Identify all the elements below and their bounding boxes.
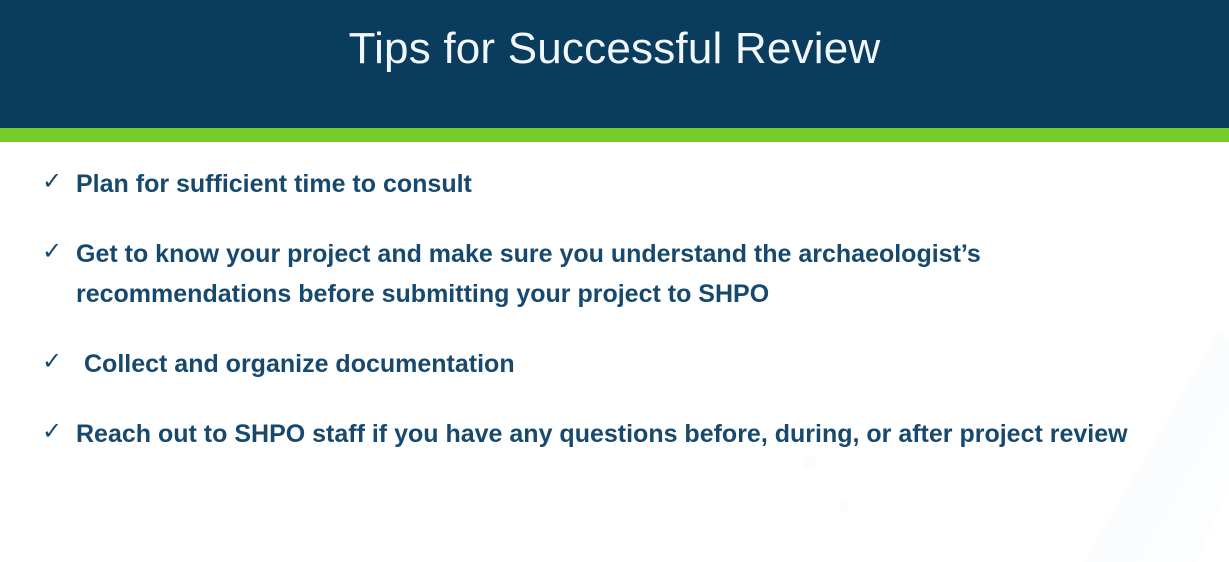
accent-bar bbox=[0, 128, 1229, 142]
checkmark-icon: ✓ bbox=[42, 233, 76, 271]
tips-bullet-list: ✓ Plan for sufficient time to consult ✓ … bbox=[42, 164, 1189, 454]
slide-title: Tips for Successful Review bbox=[0, 0, 1229, 128]
list-item-text: Reach out to SHPO staff if you have any … bbox=[76, 414, 1189, 454]
checkmark-icon: ✓ bbox=[42, 163, 76, 201]
list-item: ✓ Collect and organize documentation bbox=[42, 344, 1189, 384]
list-item-text: Get to know your project and make sure y… bbox=[76, 234, 1189, 314]
slide: Tips for Successful Review ✓ Plan for su… bbox=[0, 0, 1229, 562]
list-item: ✓ Reach out to SHPO staff if you have an… bbox=[42, 414, 1189, 454]
checkmark-icon: ✓ bbox=[42, 343, 76, 381]
checkmark-icon: ✓ bbox=[42, 413, 76, 451]
list-item: ✓ Plan for sufficient time to consult bbox=[42, 164, 1189, 204]
slide-body: ✓ Plan for sufficient time to consult ✓ … bbox=[0, 142, 1229, 562]
list-item: ✓ Get to know your project and make sure… bbox=[42, 234, 1189, 314]
list-item-text: Plan for sufficient time to consult bbox=[76, 164, 1189, 204]
list-item-text: Collect and organize documentation bbox=[76, 344, 1189, 384]
